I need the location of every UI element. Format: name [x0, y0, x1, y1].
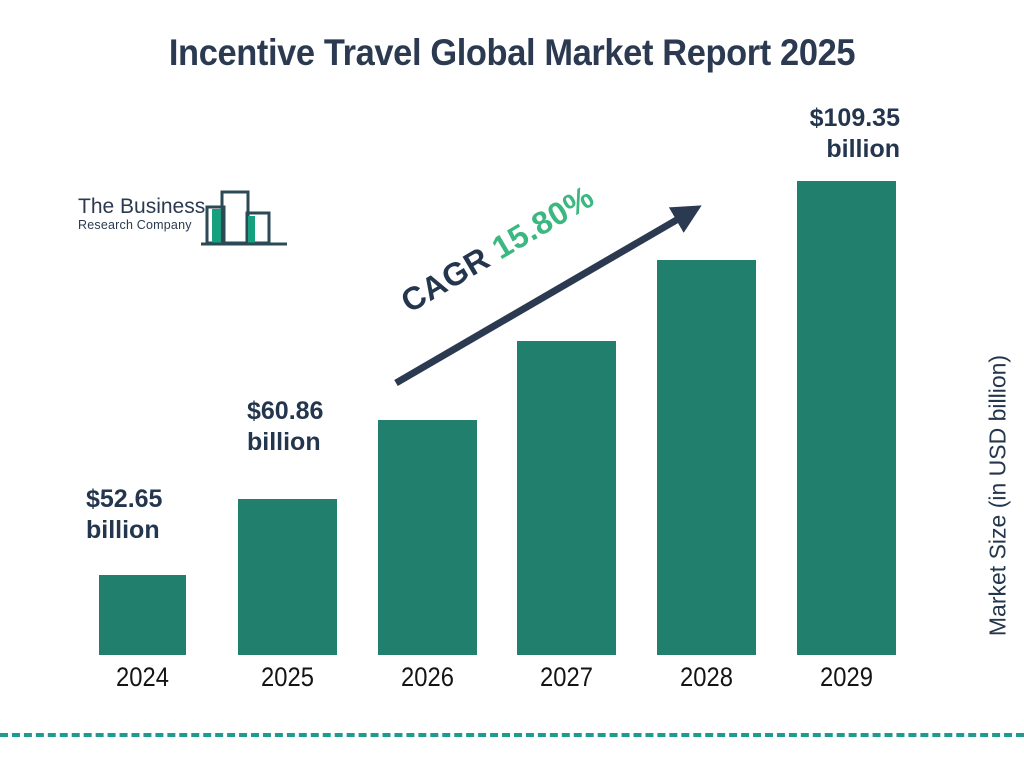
value-label-amount: $60.86	[247, 396, 323, 427]
x-axis-label-2026: 2026	[384, 662, 471, 693]
value-label-2029: $109.35billion	[770, 103, 900, 165]
value-label-unit: billion	[770, 134, 900, 165]
x-axis-label-2024: 2024	[104, 662, 181, 693]
bar-2024[interactable]	[99, 575, 186, 655]
value-label-amount: $109.35	[770, 103, 900, 134]
footer-divider	[0, 733, 1024, 737]
bar-2028[interactable]	[657, 260, 756, 655]
x-axis-label-2028: 2028	[663, 662, 750, 693]
bar-2026[interactable]	[378, 420, 477, 655]
value-label-unit: billion	[247, 427, 323, 458]
bar-2027[interactable]	[517, 341, 616, 655]
x-axis-label-2029: 2029	[803, 662, 890, 693]
value-label-amount: $52.65	[86, 484, 162, 515]
y-axis-title-text: Market Size (in USD billion)	[985, 336, 1012, 656]
value-label-unit: billion	[86, 515, 162, 546]
bar-2025[interactable]	[238, 499, 337, 655]
x-axis-label-2027: 2027	[523, 662, 610, 693]
value-label-2024: $52.65billion	[86, 484, 162, 546]
value-label-2025: $60.86billion	[247, 396, 323, 458]
x-axis-label-2025: 2025	[244, 662, 331, 693]
y-axis-title: Market Size (in USD billion)	[837, 336, 1012, 508]
